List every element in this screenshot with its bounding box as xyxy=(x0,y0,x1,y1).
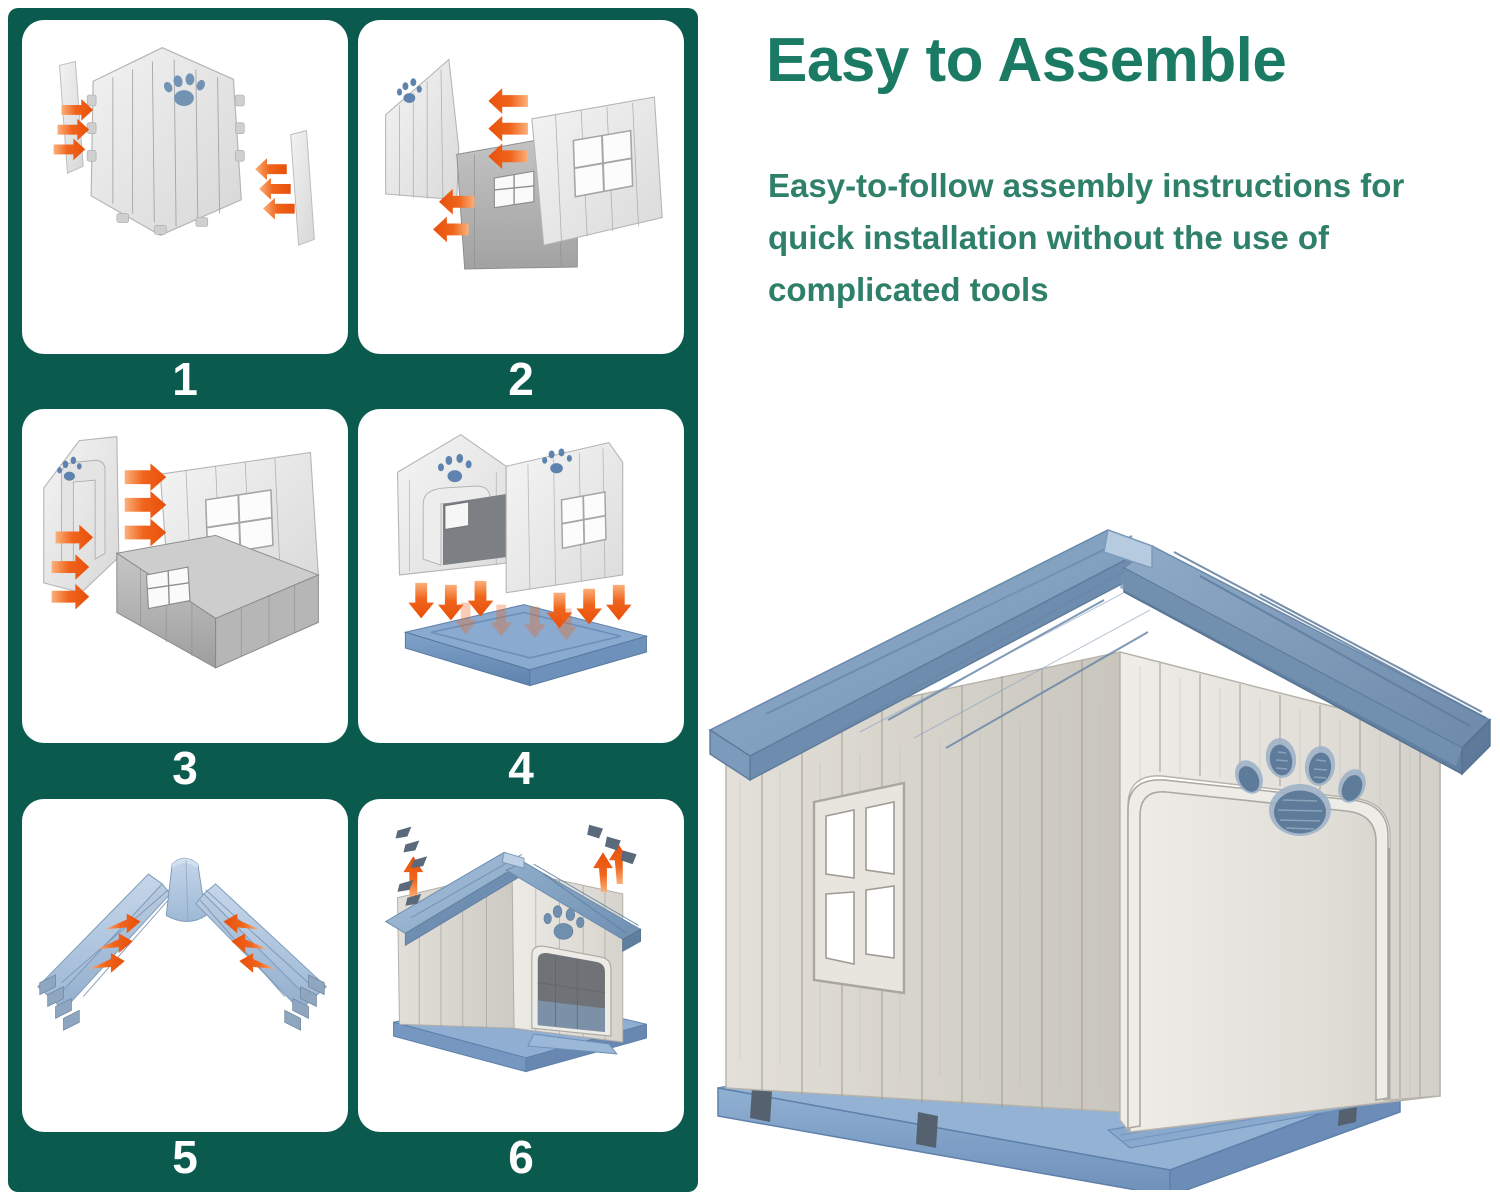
assembly-steps-panel: 1 xyxy=(8,8,698,1192)
step-cell-3: 3 xyxy=(22,409,348,792)
step-1-illustration-card xyxy=(22,20,348,354)
infographic-page: 1 xyxy=(0,0,1500,1200)
side-wall-windowed xyxy=(506,443,623,593)
step-number-3: 3 xyxy=(172,745,198,793)
step-5-illustration-card xyxy=(22,799,348,1133)
front-gable-panel xyxy=(87,48,244,236)
step-6-artwork xyxy=(358,799,684,1095)
window-frame xyxy=(573,131,632,197)
side-window xyxy=(814,783,904,993)
roof-panel-right xyxy=(196,884,326,1030)
step-cell-5: 5 xyxy=(22,799,348,1182)
step-3-artwork xyxy=(22,409,348,705)
step-cell-2: 2 xyxy=(358,20,684,403)
front-panel-upright xyxy=(386,60,459,200)
step-number-1: 1 xyxy=(172,356,198,404)
step-cell-6: 6 xyxy=(358,799,684,1182)
dog-house-illustration xyxy=(700,480,1500,1190)
roof-panel-left xyxy=(38,874,170,1030)
step-6-illustration-card xyxy=(358,799,684,1133)
step-number-5: 5 xyxy=(172,1134,198,1182)
step-2-artwork xyxy=(358,20,684,316)
step-3-illustration-card xyxy=(22,409,348,743)
step-cell-4: 4 xyxy=(358,409,684,792)
roof-ridge-cap xyxy=(166,858,206,921)
step-cell-1: 1 xyxy=(22,20,348,403)
step-4-illustration-card xyxy=(358,409,684,743)
blue-base-tray xyxy=(405,605,646,686)
house-doorway xyxy=(532,946,611,1036)
page-subtitle: Easy-to-follow assembly instructions for… xyxy=(768,160,1468,316)
side-wall-panel-windowed xyxy=(532,97,662,245)
page-title: Easy to Assemble xyxy=(766,28,1466,95)
step-number-6: 6 xyxy=(508,1134,534,1182)
step-4-artwork xyxy=(358,409,684,705)
side-trim-strip-left xyxy=(60,61,84,173)
interior-window xyxy=(445,502,469,530)
product-hero-image xyxy=(700,480,1500,1190)
step-1-artwork xyxy=(22,20,348,316)
assembly-arrow-group-right xyxy=(255,158,295,219)
window-frame xyxy=(561,492,605,548)
step-2-illustration-card xyxy=(358,20,684,354)
step-5-artwork xyxy=(22,799,348,1095)
step-number-2: 2 xyxy=(508,356,534,404)
side-trim-strip-right xyxy=(291,131,315,246)
step-number-4: 4 xyxy=(508,745,534,793)
